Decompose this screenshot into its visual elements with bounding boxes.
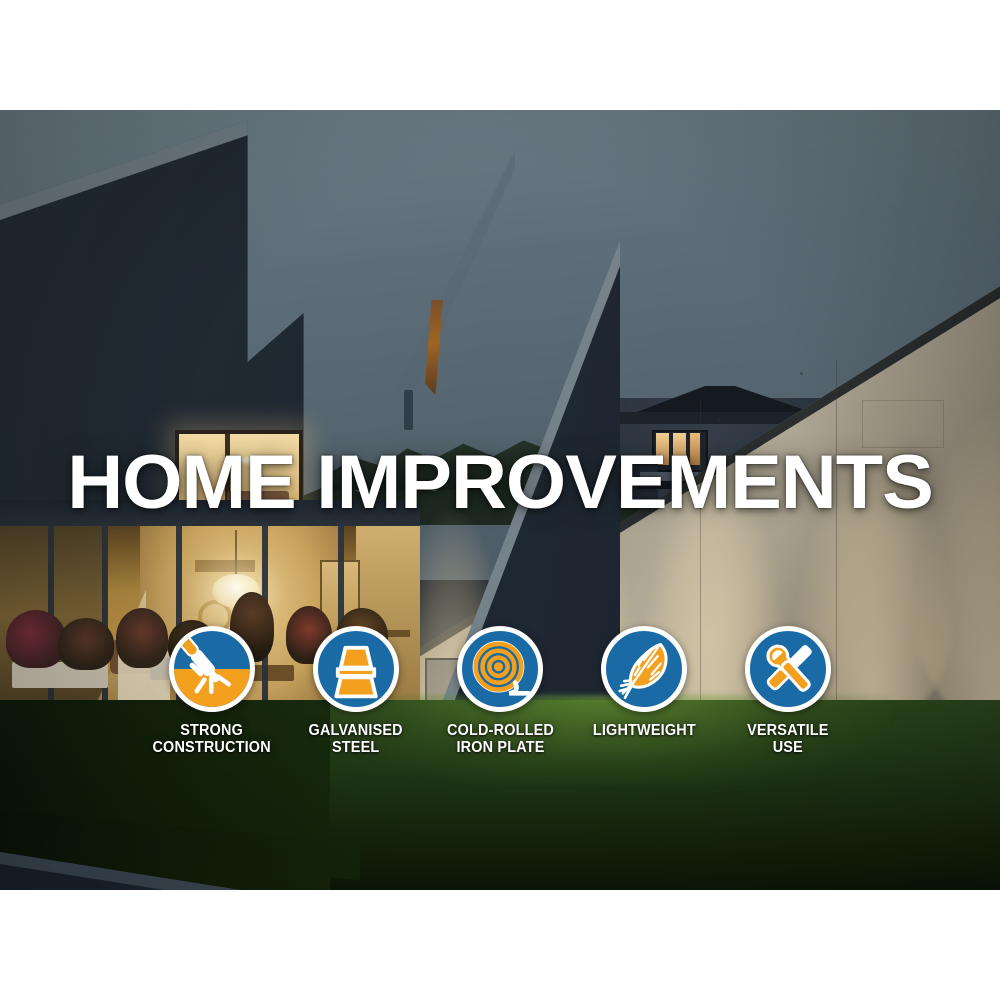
feature-label: GALVANISED STEEL [309,723,403,756]
hammer-strike-icon [169,626,255,712]
feature-label: VERSATILE USE [747,723,829,756]
page-title: HOME IMPROVEMENTS [0,445,1000,521]
feature-lightweight[interactable]: LIGHTWEIGHT [572,626,716,740]
steel-coil-icon [457,626,543,712]
anvil-steel-icon [313,626,399,712]
wall-tie-hole [718,418,721,421]
banner-stage: HOME IMPROVEMENTS [0,0,1000,1000]
feature-label: STRONG CONSTRUCTION [153,723,271,756]
feature-cold-rolled-iron-plate[interactable]: COLD-ROLLED IRON PLATE [428,626,572,756]
downpipe [404,390,413,430]
pendant-cord [235,530,237,576]
wall-art [195,560,255,572]
wall-tie-hole [800,372,803,375]
feature-badge-row: STRONG CONSTRUCTION GALVANISED STEEL [0,626,1000,786]
feature-label: LIGHTWEIGHT [593,723,696,740]
feature-strong-construction[interactable]: STRONG CONSTRUCTION [140,626,284,756]
feature-galvanised-steel[interactable]: GALVANISED STEEL [284,626,428,756]
screwdriver-wrench-icon [745,626,831,712]
feather-icon [601,626,687,712]
feature-versatile-use[interactable]: VERSATILE USE [716,626,860,756]
feature-label: COLD-ROLLED IRON PLATE [447,723,554,756]
